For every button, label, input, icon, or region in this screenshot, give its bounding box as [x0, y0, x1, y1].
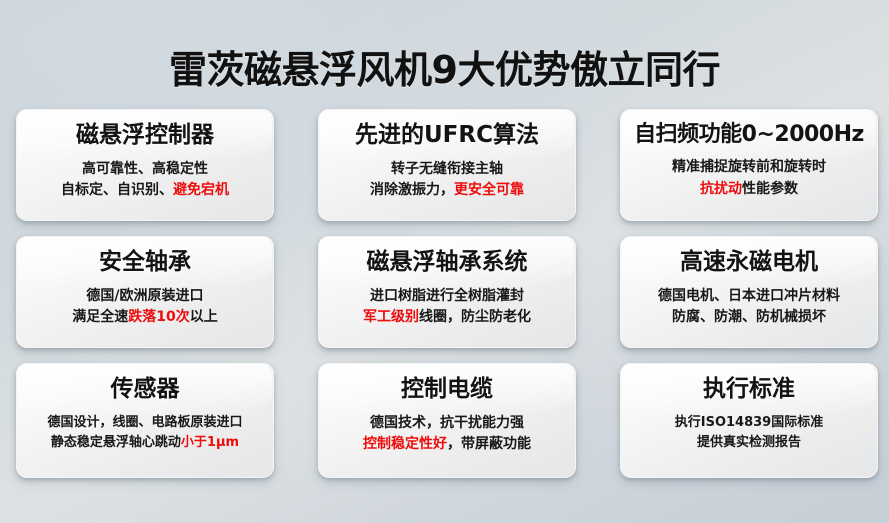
advantage-card-title: 自扫频功能0~2000Hz: [634, 122, 864, 148]
advantage-card-body: 执行ISO14839国际标准提供真实检测报告: [675, 413, 823, 453]
advantage-card-body: 德国/欧洲原装进口满足全速跌落10次以上: [72, 286, 217, 329]
advantage-card[interactable]: 高速永磁电机德国电机、日本进口冲片材料防腐、防潮、防机械损坏: [620, 236, 878, 348]
advantage-card[interactable]: 传感器德国设计，线圈、电路板原装进口静态稳定悬浮轴心跳动小于1μm: [16, 363, 274, 478]
advantage-card-line: 军工级别线圈，防尘防老化: [363, 307, 531, 329]
highlight-text: 抗扰动: [700, 181, 742, 197]
body-text: 防腐、防潮、防机械损坏: [672, 309, 826, 325]
advantage-card-line: 执行ISO14839国际标准: [675, 413, 823, 433]
advantage-card-line: 防腐、防潮、防机械损坏: [658, 307, 840, 329]
advantage-card-body: 高可靠性、高稳定性自标定、自识别、避免宕机: [61, 159, 229, 202]
highlight-text: 控制稳定性好: [363, 436, 447, 452]
advantage-card[interactable]: 执行标准执行ISO14839国际标准提供真实检测报告: [620, 363, 878, 478]
advantage-card-title: 高速永磁电机: [680, 249, 818, 277]
advantage-card-title: 控制电缆: [401, 376, 493, 404]
advantage-card-line: 精准捕捉旋转前和旋转时: [672, 157, 826, 179]
highlight-text: 更安全可靠: [454, 182, 524, 198]
advantage-card-line: 高可靠性、高稳定性: [61, 159, 229, 181]
body-text: 消除激振力，: [370, 182, 454, 198]
advantage-card-title: 磁悬浮轴承系统: [367, 249, 528, 277]
advantage-card-line: 提供真实检测报告: [675, 433, 823, 453]
body-text: 性能参数: [742, 181, 798, 197]
advantage-card-title: 传感器: [111, 376, 180, 404]
body-text: 满足全速: [72, 309, 128, 325]
advantage-card-line: 德国技术，抗干扰能力强: [363, 413, 531, 435]
body-text: 静态稳定悬浮轴心跳动: [51, 435, 181, 450]
advantage-card-body: 转子无缝衔接主轴消除激振力，更安全可靠: [370, 159, 524, 202]
advantage-card-line: 满足全速跌落10次以上: [72, 307, 217, 329]
body-text: 高可靠性、高稳定性: [82, 161, 208, 177]
body-text: 进口树脂进行全树脂灌封: [370, 288, 524, 304]
advantage-card-title: 执行标准: [703, 376, 795, 404]
body-text: 以上: [190, 309, 218, 325]
advantage-card[interactable]: 控制电缆德国技术，抗干扰能力强控制稳定性好，带屏蔽功能: [318, 363, 576, 478]
body-text: 德国技术，抗干扰能力强: [370, 415, 524, 431]
highlight-text: 军工级别: [363, 309, 419, 325]
body-text: 德国设计，线圈、电路板原装进口: [47, 415, 242, 430]
advantage-card[interactable]: 自扫频功能0~2000Hz精准捕捉旋转前和旋转时抗扰动性能参数: [620, 109, 878, 221]
highlight-text: 跌落10次: [128, 309, 189, 325]
advantage-card-line: 进口树脂进行全树脂灌封: [363, 286, 531, 308]
body-text: 转子无缝衔接主轴: [391, 161, 503, 177]
body-text: 德国电机、日本进口冲片材料: [658, 288, 840, 304]
advantage-card-body: 德国电机、日本进口冲片材料防腐、防潮、防机械损坏: [658, 286, 840, 329]
advantage-card[interactable]: 安全轴承德国/欧洲原装进口满足全速跌落10次以上: [16, 236, 274, 348]
advantage-card-line: 控制稳定性好，带屏蔽功能: [363, 434, 531, 456]
advantage-card-body: 德国设计，线圈、电路板原装进口静态稳定悬浮轴心跳动小于1μm: [47, 413, 242, 453]
advantage-card-line: 静态稳定悬浮轴心跳动小于1μm: [47, 433, 242, 453]
highlight-text: 小于1μm: [181, 435, 239, 450]
advantage-card-line: 德国电机、日本进口冲片材料: [658, 286, 840, 308]
advantage-card-title: 先进的UFRC算法: [355, 122, 539, 150]
advantage-card-line: 转子无缝衔接主轴: [370, 159, 524, 181]
body-text: 精准捕捉旋转前和旋转时: [672, 159, 826, 175]
advantage-card-body: 进口树脂进行全树脂灌封军工级别线圈，防尘防老化: [363, 286, 531, 329]
body-text: 提供真实检测报告: [697, 435, 801, 450]
title-bar: 雷茨磁悬浮风机9大优势傲立同行: [0, 24, 889, 119]
advantage-card-line: 德国设计，线圈、电路板原装进口: [47, 413, 242, 433]
body-text: 线圈，防尘防老化: [419, 309, 531, 325]
advantage-card-title: 磁悬浮控制器: [76, 122, 214, 150]
advantages-infographic: 雷茨磁悬浮风机9大优势傲立同行 磁悬浮控制器高可靠性、高稳定性自标定、自识别、避…: [0, 0, 889, 523]
advantage-card-line: 消除激振力，更安全可靠: [370, 180, 524, 202]
body-text: 德国/欧洲原装进口: [86, 288, 203, 304]
advantage-card[interactable]: 先进的UFRC算法转子无缝衔接主轴消除激振力，更安全可靠: [318, 109, 576, 221]
body-text: 自标定、自识别、: [61, 182, 173, 198]
advantage-card-line: 德国/欧洲原装进口: [72, 286, 217, 308]
advantage-card-grid: 磁悬浮控制器高可靠性、高稳定性自标定、自识别、避免宕机先进的UFRC算法转子无缝…: [16, 109, 878, 485]
highlight-text: 避免宕机: [173, 182, 229, 198]
advantage-card[interactable]: 磁悬浮控制器高可靠性、高稳定性自标定、自识别、避免宕机: [16, 109, 274, 221]
page-title: 雷茨磁悬浮风机9大优势傲立同行: [169, 49, 720, 93]
advantage-card-line: 抗扰动性能参数: [672, 179, 826, 201]
advantage-card[interactable]: 磁悬浮轴承系统进口树脂进行全树脂灌封军工级别线圈，防尘防老化: [318, 236, 576, 348]
advantage-card-line: 自标定、自识别、避免宕机: [61, 180, 229, 202]
body-text: 执行ISO14839国际标准: [675, 415, 823, 430]
advantage-card-title: 安全轴承: [99, 249, 191, 277]
advantage-card-body: 精准捕捉旋转前和旋转时抗扰动性能参数: [672, 157, 826, 200]
advantage-card-body: 德国技术，抗干扰能力强控制稳定性好，带屏蔽功能: [363, 413, 531, 456]
body-text: ，带屏蔽功能: [447, 436, 531, 452]
